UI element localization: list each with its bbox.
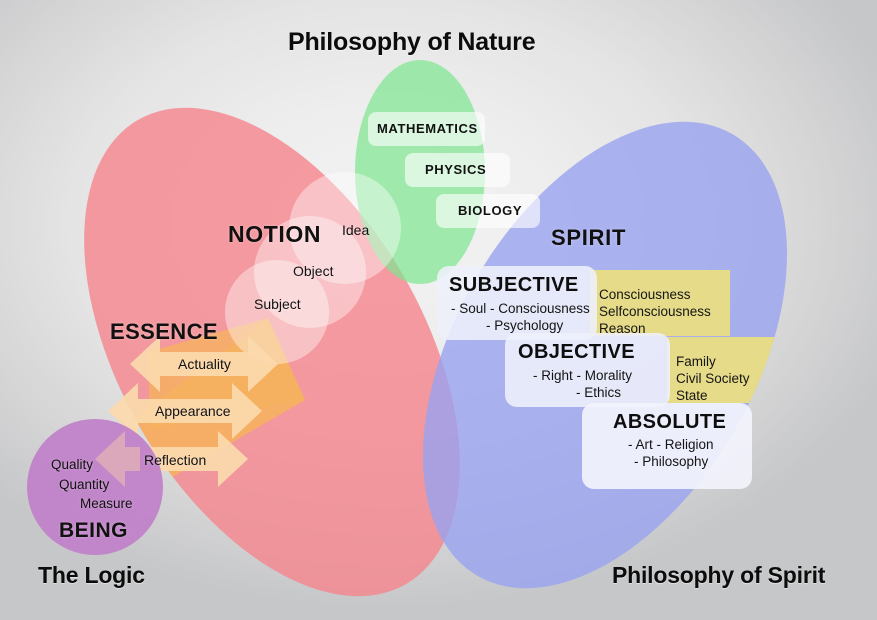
label-consciousness: Consciousness — [599, 287, 691, 302]
label-absolute-line2: - Philosophy — [634, 454, 708, 469]
label-quantity: Quantity — [59, 477, 109, 492]
label-idea: Idea — [342, 222, 369, 238]
label-objective-line2: - Ethics — [576, 385, 621, 400]
label-physics: PHYSICS — [425, 162, 486, 177]
label-measure: Measure — [80, 496, 133, 511]
heading-absolute: ABSOLUTE — [613, 411, 726, 434]
heading-subjective: SUBJECTIVE — [449, 274, 579, 297]
label-state: State — [676, 388, 708, 403]
spirit-panels-layer — [0, 0, 877, 620]
label-object: Object — [293, 263, 333, 279]
label-actuality: Actuality — [178, 356, 231, 372]
page-title-nature: Philosophy of Nature — [288, 28, 535, 57]
label-absolute-line1: - Art - Religion — [628, 437, 714, 452]
label-reason: Reason — [599, 321, 646, 336]
heading-objective: OBJECTIVE — [518, 341, 635, 364]
label-subject: Subject — [254, 296, 301, 312]
label-objective-line1: - Right - Morality — [533, 368, 632, 383]
label-reflection: Reflection — [144, 452, 206, 468]
diagram-canvas: Philosophy of Nature The Logic Philosoph… — [0, 0, 877, 620]
label-selfconsciousness: Selfconsciousness — [599, 304, 711, 319]
heading-essence: ESSENCE — [110, 319, 218, 345]
heading-being: BEING — [59, 519, 128, 543]
heading-spirit: SPIRIT — [551, 225, 626, 251]
label-mathematics: MATHEMATICS — [377, 121, 478, 136]
heading-notion: NOTION — [228, 221, 321, 248]
page-title-logic: The Logic — [38, 562, 145, 589]
label-biology: BIOLOGY — [458, 203, 522, 218]
page-title-spirit: Philosophy of Spirit — [612, 562, 825, 589]
label-quality: Quality — [51, 457, 93, 472]
label-subjective-line1: - Soul - Consciousness — [451, 301, 590, 316]
label-appearance: Appearance — [155, 403, 231, 419]
label-subjective-line2: - Psychology — [486, 318, 563, 333]
label-family: Family — [676, 354, 716, 369]
label-civil-society: Civil Society — [676, 371, 750, 386]
